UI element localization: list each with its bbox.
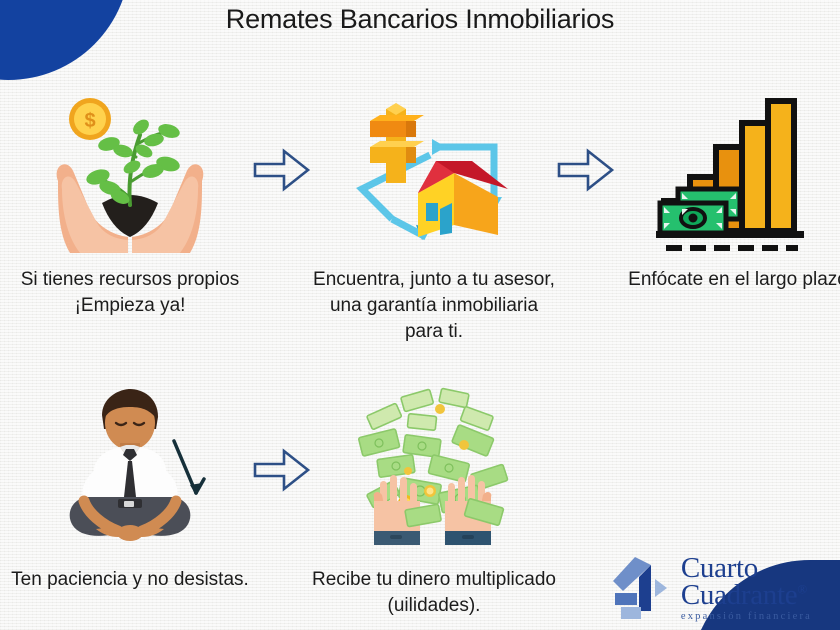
- step-5-caption: Recibe tu dinero multiplicado (uilidades…: [309, 567, 559, 619]
- step-5: Recibe tu dinero multiplicado (uilidades…: [314, 385, 554, 619]
- svg-text:$: $: [84, 110, 95, 132]
- brand-name-line-2: Cuadrante®: [681, 581, 812, 610]
- growing-bar-chart-with-cash-icon: [648, 85, 828, 255]
- brand-name-line-2-text: Cuadrante: [681, 579, 797, 611]
- step-1-caption: Si tienes recursos propios ¡Empieza ya!: [5, 267, 255, 319]
- businessman-meditating-lotus-icon: [40, 385, 220, 555]
- step-4-caption: Ten paciencia y no desistas.: [5, 567, 255, 593]
- step-1: $: [10, 85, 250, 345]
- step-3: Enfócate en el largo plazo: [618, 85, 840, 345]
- flow-arrow-1: [250, 85, 314, 255]
- flow-arrow-3: [250, 385, 314, 555]
- steps-row-top: $: [0, 85, 840, 345]
- isometric-house-with-dollar-sign-and-cycle-arrows-icon: [344, 85, 524, 255]
- hands-catching-falling-money-icon: [344, 385, 524, 555]
- step-4: Ten paciencia y no desistas.: [10, 385, 250, 619]
- infographic-canvas: Remates Bancarios Inmobiliarios $: [0, 0, 840, 630]
- hands-holding-growing-plant-with-coin-icon: $: [40, 85, 220, 255]
- brand-tagline: expansión financiera: [681, 612, 812, 623]
- brand-logo: Cuarto Cuadrante® expansión financiera: [611, 554, 812, 623]
- flow-arrow-2: [554, 85, 618, 255]
- brand-text: Cuarto Cuadrante® expansión financiera: [681, 554, 812, 623]
- step-2: Encuentra, junto a tu asesor, una garant…: [314, 85, 554, 345]
- step-2-caption: Encuentra, junto a tu asesor, una garant…: [309, 267, 559, 345]
- stylized-four-quadrant-logo-icon: [611, 555, 673, 621]
- registered-trademark-mark: ®: [797, 581, 807, 596]
- page-title: Remates Bancarios Inmobiliarios: [0, 2, 840, 36]
- step-3-caption: Enfócate en el largo plazo: [613, 267, 840, 293]
